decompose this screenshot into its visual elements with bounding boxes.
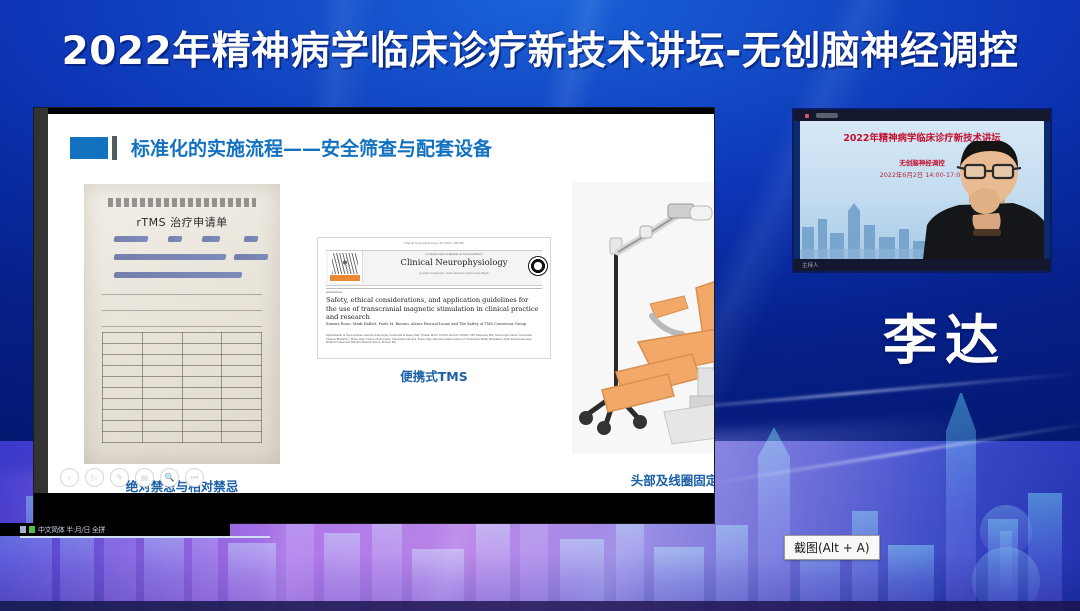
pen-tool-button[interactable]: ✎ bbox=[110, 468, 129, 487]
speaker-name: 李达 bbox=[860, 296, 1030, 375]
ime-status-bar[interactable]: 中文简体 半:月/日 全拼 bbox=[0, 523, 230, 536]
form-table-grid bbox=[102, 332, 262, 443]
slide-canvas[interactable]: 标准化的实施流程——安全筛查与配套设备 rTMS 治疗申请单 bbox=[48, 114, 714, 493]
figure-rtms-form: rTMS 治疗申请单 bbox=[84, 184, 280, 464]
elsevier-logo-icon bbox=[328, 251, 363, 283]
keyboard-icon bbox=[20, 526, 26, 533]
treatment-chair-image bbox=[572, 182, 714, 454]
journal-contents-line: Contents lists available at ScienceDirec… bbox=[368, 252, 540, 256]
slide-list-button[interactable]: ▤ bbox=[135, 468, 154, 487]
background-bottom-bar bbox=[0, 601, 1080, 611]
figure-caption-2: 便携式TMS bbox=[318, 366, 550, 385]
journal-page-image: Clinical Neurophysiology 132 (2021) 269-… bbox=[318, 238, 550, 358]
video-status-label: 主持人 bbox=[802, 261, 819, 269]
rtms-form-photo: rTMS 治疗申请单 bbox=[84, 184, 280, 464]
recording-dot-icon bbox=[805, 114, 809, 118]
heading-accent-square-icon bbox=[70, 137, 108, 159]
status-underline bbox=[20, 536, 270, 538]
slide-title: 标准化的实施流程——安全筛查与配套设备 bbox=[131, 134, 492, 161]
video-frame: 2022年精神病学临床诊疗新技术讲坛 无创脑神经调控 2022年6月2日 14:… bbox=[800, 121, 1044, 259]
paper-title: Safety, ethical considerations, and appl… bbox=[326, 296, 540, 322]
journal-running-head: Clinical Neurophysiology 132 (2021) 269-… bbox=[318, 242, 550, 245]
figure-treatment-chair: 头部及线圈固定装置 bbox=[572, 182, 714, 459]
figure-caption-3: 头部及线圈固定装置 bbox=[572, 470, 714, 489]
paper-kicker: Guidelines bbox=[326, 290, 342, 294]
ime-active-icon bbox=[29, 526, 35, 533]
speaker-video-panel[interactable]: 2022年精神病学临床诊疗新技术讲坛 无创脑神经调控 2022年6月2日 14:… bbox=[794, 110, 1050, 271]
screenshot-tooltip[interactable]: 截图(Alt + A) bbox=[784, 535, 880, 560]
shared-screen-window[interactable]: 标准化的实施流程——安全筛查与配套设备 rTMS 治疗申请单 bbox=[34, 108, 714, 523]
journal-homepage: journal homepage: www.elsevier.com/locat… bbox=[368, 271, 540, 275]
form-title: rTMS 治疗申请单 bbox=[84, 214, 280, 230]
journal-badge-icon bbox=[528, 256, 548, 276]
play-slide-button[interactable]: ▷ bbox=[85, 468, 104, 487]
ime-status-text: 中文简体 半:月/日 全拼 bbox=[38, 525, 105, 535]
figure-tms-guidelines-paper: Clinical Neurophysiology 132 (2021) 269-… bbox=[318, 238, 550, 358]
paper-authors: Simone Rossi, Mark Hallett, Paolo M. Ros… bbox=[326, 322, 540, 327]
video-status-bar: 主持人 bbox=[794, 259, 1050, 271]
speaker-silhouette-icon bbox=[913, 141, 1044, 259]
form-hospital-header-line bbox=[108, 198, 256, 207]
heading-accent-bar-icon bbox=[112, 136, 117, 160]
video-title-bar bbox=[794, 110, 1050, 121]
slide-nav-toolbar[interactable]: ‹ ▷ ✎ ▤ 🔍 ••• bbox=[60, 468, 204, 487]
slide-figure-row: rTMS 治疗申请单 bbox=[48, 176, 714, 476]
share-window-bottom-bar bbox=[34, 493, 714, 523]
paper-affiliations: Dipartimento di Neuroscienze, Sezione Ne… bbox=[326, 334, 540, 345]
zoom-tool-button[interactable]: 🔍 bbox=[160, 468, 179, 487]
more-options-button[interactable]: ••• bbox=[185, 468, 204, 487]
conference-title-banner: 2022年精神病学临床诊疗新技术讲坛-无创脑神经调控 bbox=[0, 0, 1080, 96]
journal-name: Clinical Neurophysiology bbox=[368, 257, 540, 267]
presentation-stage: 2022年精神病学临床诊疗新技术讲坛-无创脑神经调控 标准化的实施流程——安全筛… bbox=[0, 0, 1080, 611]
conference-title: 2022年精神病学临床诊疗新技术讲坛-无创脑神经调控 bbox=[62, 20, 1019, 76]
video-label-placeholder bbox=[816, 113, 838, 118]
prev-slide-button[interactable]: ‹ bbox=[60, 468, 79, 487]
slide-heading: 标准化的实施流程——安全筛查与配套设备 bbox=[70, 134, 492, 161]
